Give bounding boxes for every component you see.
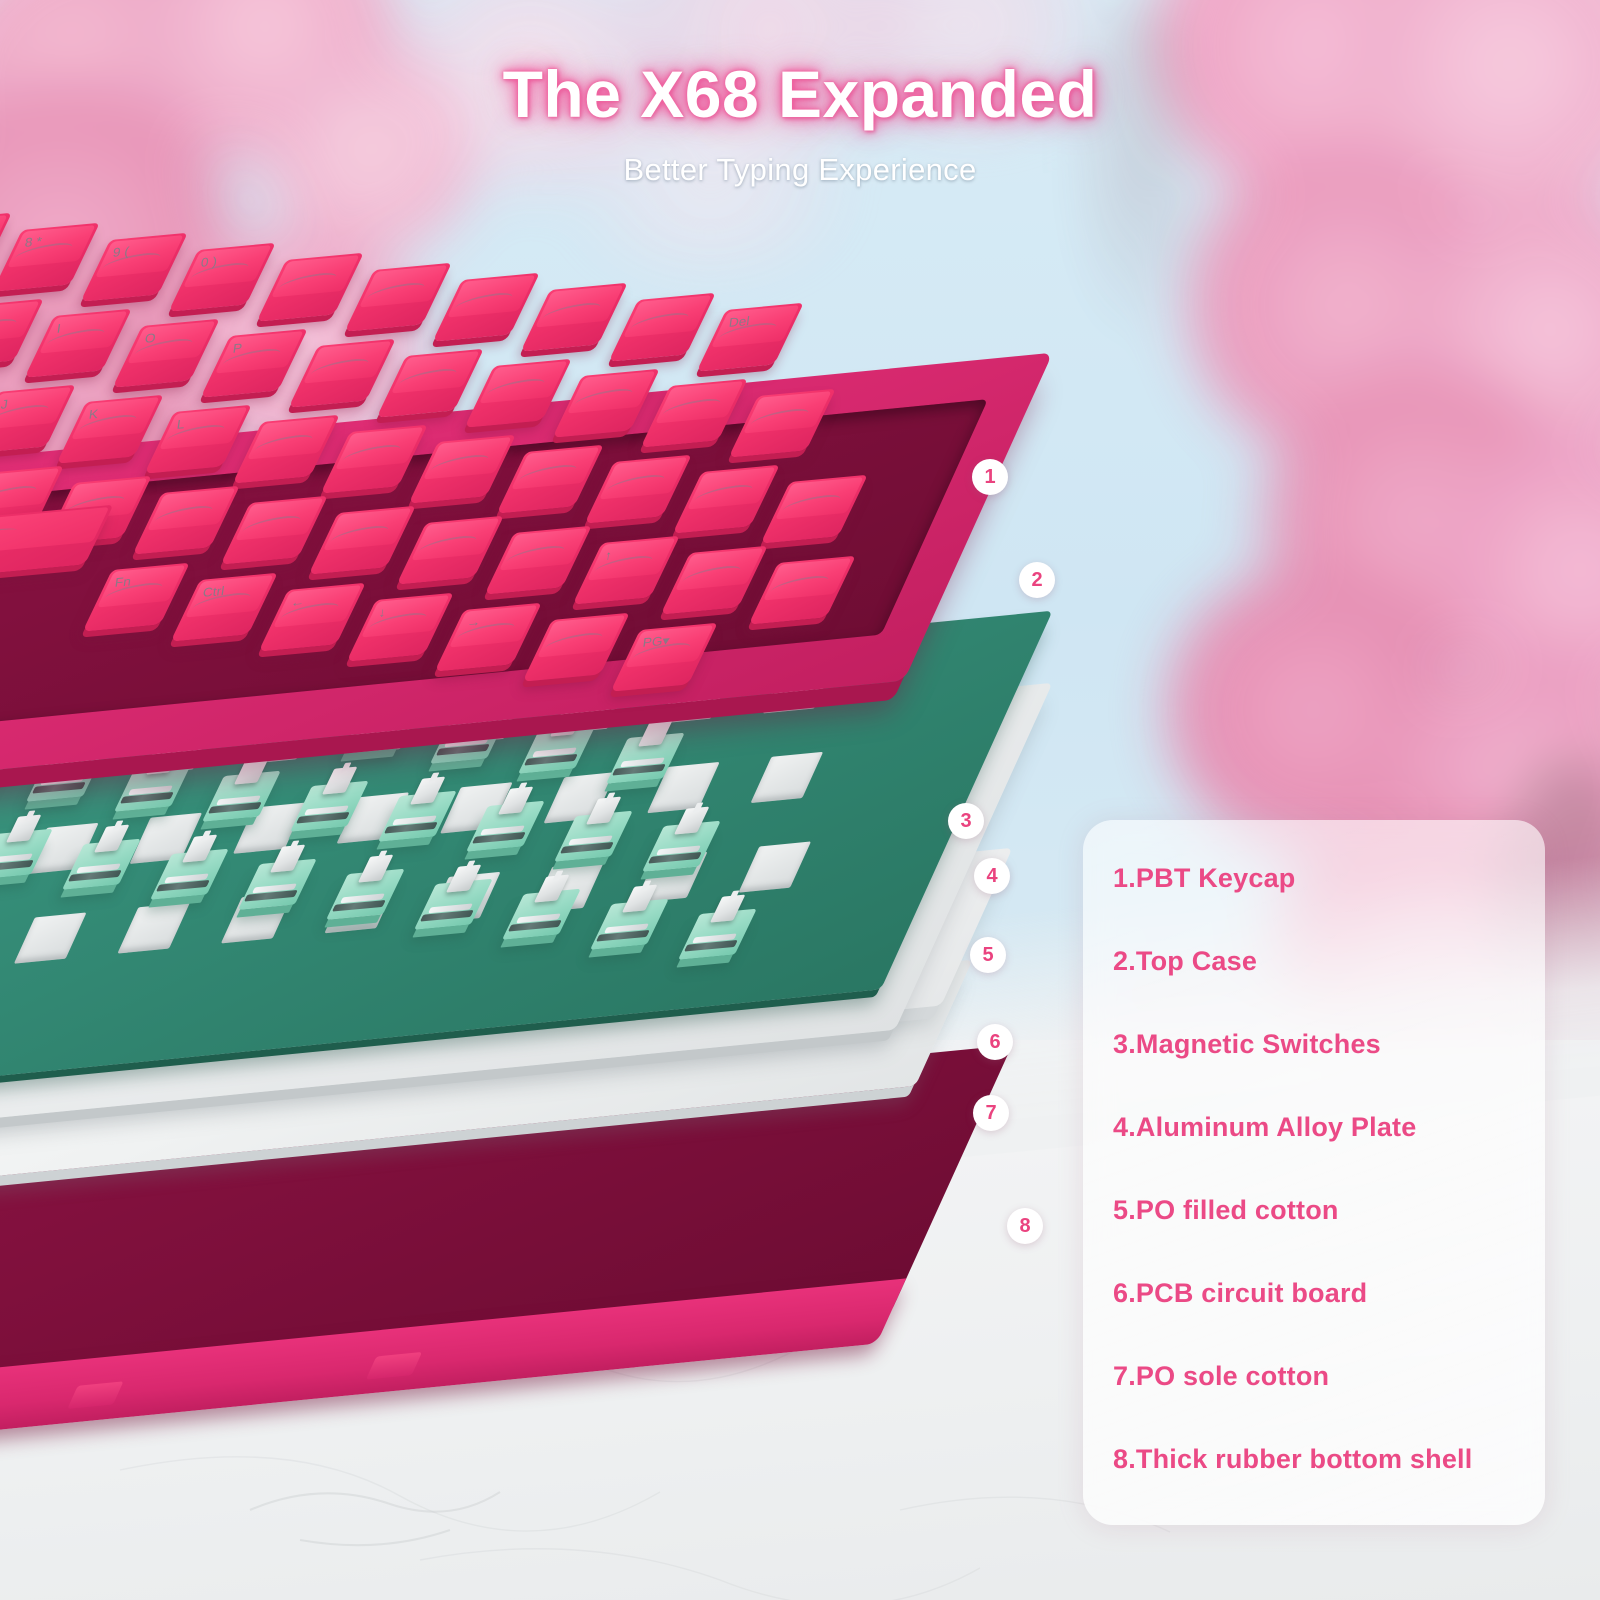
callout-badge-7[interactable]: 7 [973, 1095, 1009, 1131]
layer-pbt-keycaps: 4 5 % 6 ^ 7 & 8 * 9 ( 0 ) Del R T Y U I … [0, 180, 980, 700]
page-subtitle: Better Typing Experience [0, 152, 1600, 188]
legend-item-6: 6.PCB circuit board [1113, 1269, 1545, 1352]
legend-item-4: 4.Aluminum Alloy Plate [1113, 1103, 1545, 1186]
keycap-legend: O [144, 330, 157, 345]
callout-badge-4[interactable]: 4 [974, 858, 1010, 894]
callout-badge-8[interactable]: 8 [1007, 1208, 1043, 1244]
legend-item-3: 3.Magnetic Switches [1113, 1020, 1545, 1103]
keycap-legend: Del [728, 313, 751, 329]
keycap-legend: Fn [114, 574, 132, 590]
callout-badge-2[interactable]: 2 [1019, 562, 1055, 598]
legend-item-5: 5.PO filled cotton [1113, 1186, 1545, 1269]
infographic-canvas: The X68 Expanded Better Typing Experienc… [0, 0, 1600, 1600]
keycap-legend: 8 * [24, 234, 43, 250]
keycap-legend: K [88, 406, 99, 421]
legend-item-7: 7.PO sole cotton [1113, 1352, 1545, 1435]
callout-badge-3[interactable]: 3 [948, 803, 984, 839]
keycap-legend: ← [290, 594, 306, 610]
callout-badge-1[interactable]: 1 [972, 459, 1008, 495]
keycap-legend: PG▾ [642, 633, 671, 651]
keycap-legend: → [466, 614, 482, 630]
keycap-legend: 9 ( [112, 244, 130, 260]
legend-item-1: 1.PBT Keycap [1113, 854, 1545, 937]
callout-badge-6[interactable]: 6 [977, 1024, 1013, 1060]
page-title: The X68 Expanded [0, 56, 1600, 132]
callout-badge-5[interactable]: 5 [970, 937, 1006, 973]
legend-panel: 1.PBT Keycap 2.Top Case 3.Magnetic Switc… [1083, 820, 1545, 1525]
legend-item-8: 8.Thick rubber bottom shell [1113, 1435, 1545, 1518]
keycap-legend: Ctrl [202, 583, 225, 599]
legend-item-2: 2.Top Case [1113, 937, 1545, 1020]
keycap-legend: 0 ) [200, 254, 218, 270]
header: The X68 Expanded Better Typing Experienc… [0, 0, 1600, 188]
